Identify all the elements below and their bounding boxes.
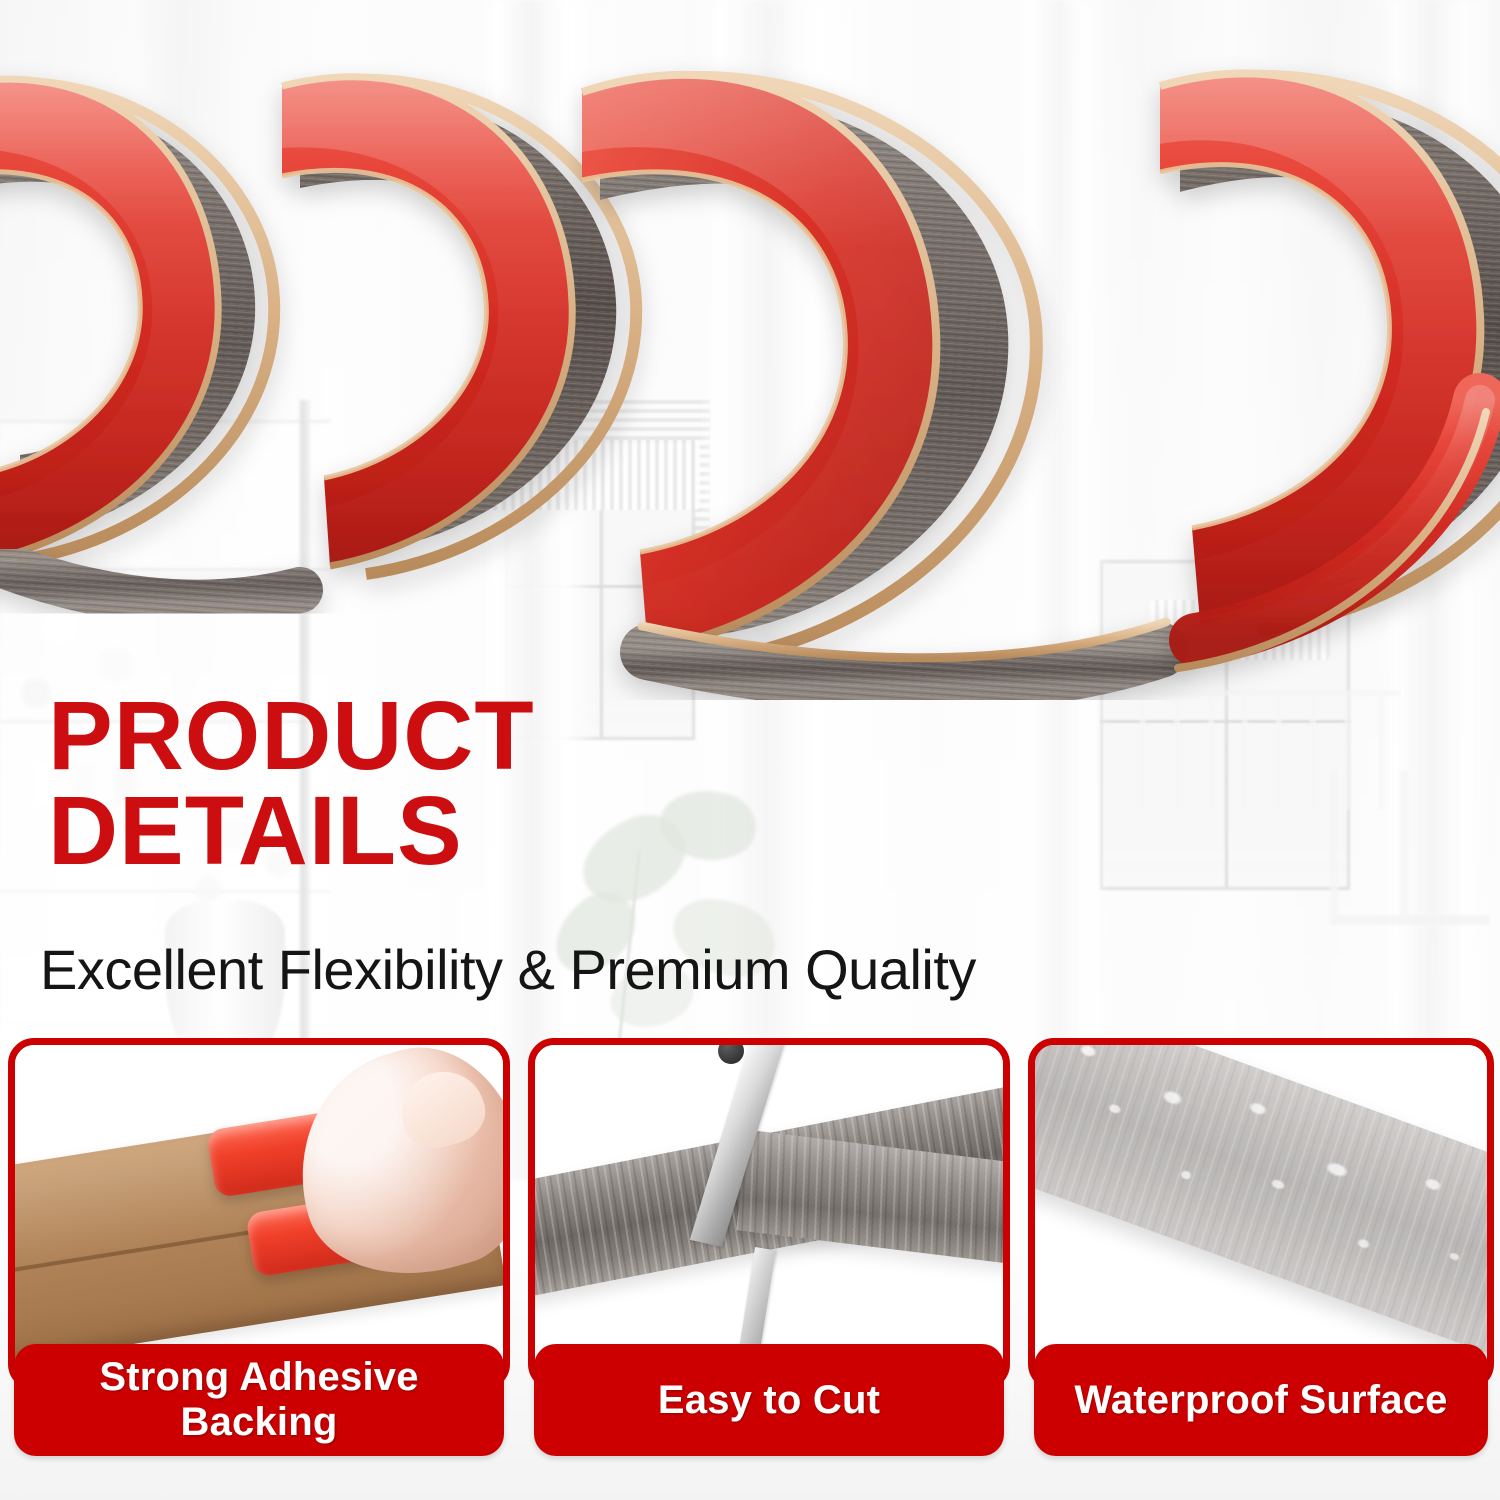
feature-panel-waterproof: Waterproof Surface xyxy=(1028,1038,1494,1456)
feature-photo-frame xyxy=(528,1038,1010,1390)
feature-caption-label: Strong Adhesive Backing xyxy=(14,1355,504,1445)
water-droplets xyxy=(1035,1045,1487,1358)
feature-caption-bar: Waterproof Surface xyxy=(1034,1344,1488,1456)
feature-panel-group: Strong Adhesive Backing Easy to Cut xyxy=(0,1038,1500,1470)
feature-photo-frame xyxy=(1028,1038,1494,1390)
hero-coiled-edge-banding xyxy=(0,0,1500,720)
background-outdoor-chair xyxy=(1330,770,1490,1010)
page-subtitle: Excellent Flexibility & Premium Quality xyxy=(40,942,976,998)
feature-panel-easy-cut: Easy to Cut xyxy=(528,1038,1010,1456)
feature-panel-adhesive: Strong Adhesive Backing xyxy=(8,1038,510,1456)
scissors-pivot-icon xyxy=(718,1045,744,1064)
feature-caption-label: Waterproof Surface xyxy=(1062,1378,1459,1423)
waterproof-surface-photo xyxy=(1035,1045,1487,1383)
feature-photo-frame xyxy=(8,1038,510,1390)
feature-caption-bar: Strong Adhesive Backing xyxy=(14,1344,504,1456)
feature-caption-bar: Easy to Cut xyxy=(534,1344,1004,1456)
page-title: PRODUCT DETAILS xyxy=(48,688,535,878)
adhesive-backing-photo xyxy=(15,1045,503,1383)
coil-4 xyxy=(1160,73,1500,668)
feature-caption-label: Easy to Cut xyxy=(646,1378,892,1423)
product-details-graphic: PRODUCT DETAILS Excellent Flexibility & … xyxy=(0,0,1500,1500)
easy-to-cut-photo xyxy=(535,1045,1003,1383)
background-monstera-plant xyxy=(540,790,780,1050)
coil-3 xyxy=(582,75,1036,662)
